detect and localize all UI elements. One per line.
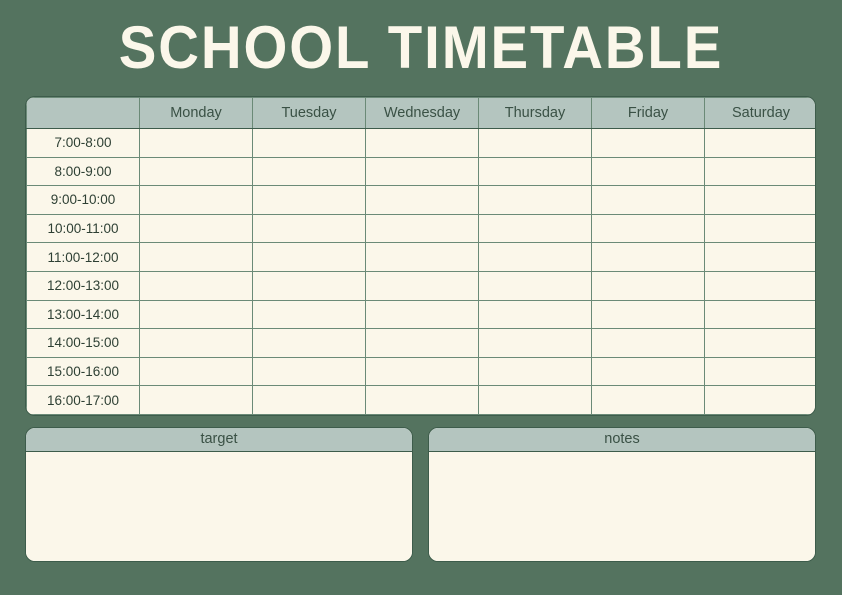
table-row: 10:00-11:00: [27, 214, 817, 243]
timetable-grid: Monday Tuesday Wednesday Thursday Friday…: [25, 96, 816, 416]
slot-cell[interactable]: [366, 214, 479, 243]
slot-cell[interactable]: [366, 357, 479, 386]
table-row: 16:00-17:00: [27, 386, 817, 415]
time-label: 16:00-17:00: [27, 386, 140, 415]
table-row: 11:00-12:00: [27, 243, 817, 272]
header-corner-cell: [27, 98, 140, 129]
slot-cell[interactable]: [705, 186, 817, 215]
target-panel-body[interactable]: [26, 452, 412, 561]
slot-cell[interactable]: [479, 243, 592, 272]
slot-cell[interactable]: [366, 129, 479, 158]
time-label: 15:00-16:00: [27, 357, 140, 386]
slot-cell[interactable]: [140, 357, 253, 386]
timetable-table: Monday Tuesday Wednesday Thursday Friday…: [26, 97, 816, 415]
time-label: 12:00-13:00: [27, 271, 140, 300]
target-panel-title: target: [26, 428, 412, 452]
table-row: 12:00-13:00: [27, 271, 817, 300]
slot-cell[interactable]: [479, 129, 592, 158]
slot-cell[interactable]: [253, 386, 366, 415]
slot-cell[interactable]: [592, 129, 705, 158]
slot-cell[interactable]: [140, 243, 253, 272]
slot-cell[interactable]: [253, 243, 366, 272]
slot-cell[interactable]: [140, 300, 253, 329]
slot-cell[interactable]: [479, 186, 592, 215]
slot-cell[interactable]: [140, 271, 253, 300]
page-title: SCHOOL TIMETABLE: [25, 16, 816, 80]
slot-cell[interactable]: [479, 271, 592, 300]
slot-cell[interactable]: [140, 386, 253, 415]
header-day-thursday: Thursday: [479, 98, 592, 129]
slot-cell[interactable]: [366, 386, 479, 415]
slot-cell[interactable]: [366, 157, 479, 186]
slot-cell[interactable]: [592, 214, 705, 243]
notes-panel-body[interactable]: [429, 452, 815, 561]
table-row: 14:00-15:00: [27, 329, 817, 358]
slot-cell[interactable]: [479, 386, 592, 415]
slot-cell[interactable]: [253, 214, 366, 243]
slot-cell[interactable]: [592, 186, 705, 215]
slot-cell[interactable]: [705, 129, 817, 158]
slot-cell[interactable]: [479, 329, 592, 358]
table-row: 8:00-9:00: [27, 157, 817, 186]
slot-cell[interactable]: [479, 214, 592, 243]
slot-cell[interactable]: [366, 243, 479, 272]
slot-cell[interactable]: [592, 329, 705, 358]
slot-cell[interactable]: [253, 329, 366, 358]
table-row: 13:00-14:00: [27, 300, 817, 329]
slot-cell[interactable]: [705, 386, 817, 415]
slot-cell[interactable]: [592, 157, 705, 186]
time-label: 11:00-12:00: [27, 243, 140, 272]
slot-cell[interactable]: [140, 214, 253, 243]
slot-cell[interactable]: [705, 243, 817, 272]
slot-cell[interactable]: [140, 157, 253, 186]
header-day-monday: Monday: [140, 98, 253, 129]
header-day-wednesday: Wednesday: [366, 98, 479, 129]
slot-cell[interactable]: [253, 157, 366, 186]
header-day-friday: Friday: [592, 98, 705, 129]
header-day-tuesday: Tuesday: [253, 98, 366, 129]
time-label: 9:00-10:00: [27, 186, 140, 215]
slot-cell[interactable]: [592, 386, 705, 415]
slot-cell[interactable]: [705, 300, 817, 329]
slot-cell[interactable]: [479, 300, 592, 329]
slot-cell[interactable]: [253, 186, 366, 215]
header-day-saturday: Saturday: [705, 98, 817, 129]
slot-cell[interactable]: [366, 329, 479, 358]
notes-panel-title: notes: [429, 428, 815, 452]
table-row: 9:00-10:00: [27, 186, 817, 215]
slot-cell[interactable]: [592, 243, 705, 272]
table-row: 7:00-8:00: [27, 129, 817, 158]
slot-cell[interactable]: [140, 186, 253, 215]
slot-cell[interactable]: [705, 329, 817, 358]
slot-cell[interactable]: [366, 271, 479, 300]
slot-cell[interactable]: [705, 271, 817, 300]
timetable-header-row: Monday Tuesday Wednesday Thursday Friday…: [27, 98, 817, 129]
time-label: 13:00-14:00: [27, 300, 140, 329]
slot-cell[interactable]: [705, 157, 817, 186]
time-label: 14:00-15:00: [27, 329, 140, 358]
slot-cell[interactable]: [253, 357, 366, 386]
slot-cell[interactable]: [592, 271, 705, 300]
slot-cell[interactable]: [479, 357, 592, 386]
notes-panel: notes: [428, 427, 816, 562]
time-label: 7:00-8:00: [27, 129, 140, 158]
slot-cell[interactable]: [366, 300, 479, 329]
timetable-page: SCHOOL TIMETABLE Monday Tuesday Wednesda…: [0, 0, 842, 595]
slot-cell[interactable]: [140, 329, 253, 358]
slot-cell[interactable]: [253, 129, 366, 158]
time-label: 8:00-9:00: [27, 157, 140, 186]
slot-cell[interactable]: [592, 357, 705, 386]
slot-cell[interactable]: [705, 214, 817, 243]
timetable-body: 7:00-8:00 8:00-9:00: [27, 129, 817, 415]
slot-cell[interactable]: [705, 357, 817, 386]
slot-cell[interactable]: [253, 300, 366, 329]
bottom-panels: target notes: [25, 427, 816, 562]
slot-cell[interactable]: [253, 271, 366, 300]
slot-cell[interactable]: [592, 300, 705, 329]
table-row: 15:00-16:00: [27, 357, 817, 386]
slot-cell[interactable]: [479, 157, 592, 186]
time-label: 10:00-11:00: [27, 214, 140, 243]
slot-cell[interactable]: [366, 186, 479, 215]
target-panel: target: [25, 427, 413, 562]
slot-cell[interactable]: [140, 129, 253, 158]
